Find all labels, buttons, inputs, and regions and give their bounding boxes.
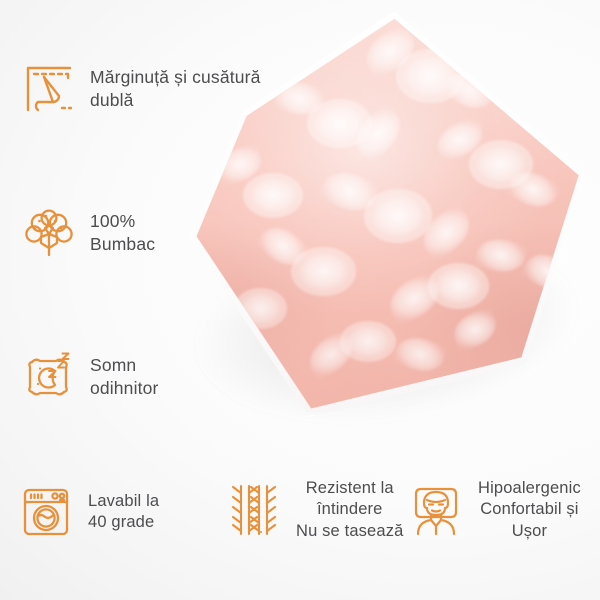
feature-label: 100% Bumbac [90, 210, 155, 257]
feature-hypoallergenic: Hipoalergenic Confortabil și Ușor [408, 478, 598, 542]
cotton-boll-icon [22, 206, 76, 260]
feature-machine-washable: Lavabil la 40 grade [18, 484, 208, 540]
woven-fibers-icon [226, 482, 282, 538]
stitched-hem-icon [22, 62, 76, 116]
product-infographic: Mărginuță și cusătură dublă 10 [0, 0, 600, 600]
feature-restful-sleep: Somn odihnitor [22, 350, 272, 404]
hypoallergenic-person-icon [408, 482, 464, 538]
sleeping-pillow-icon [22, 350, 76, 404]
feature-label: Somn odihnitor [90, 354, 158, 401]
feature-label: Mărginuță și cusătură dublă [90, 66, 260, 113]
feature-stretch-resistant: Rezistent la întindere Nu se tasează [226, 478, 411, 542]
feature-stitched-hem: Mărginuță și cusătură dublă [22, 62, 272, 116]
washing-machine-icon [18, 484, 74, 540]
feature-label: Lavabil la 40 grade [88, 491, 159, 534]
feature-cotton-material: 100% Bumbac [22, 206, 272, 260]
feature-label: Hipoalergenic Confortabil și Ușor [478, 478, 581, 542]
feature-label: Rezistent la întindere Nu se tasează [296, 478, 403, 542]
